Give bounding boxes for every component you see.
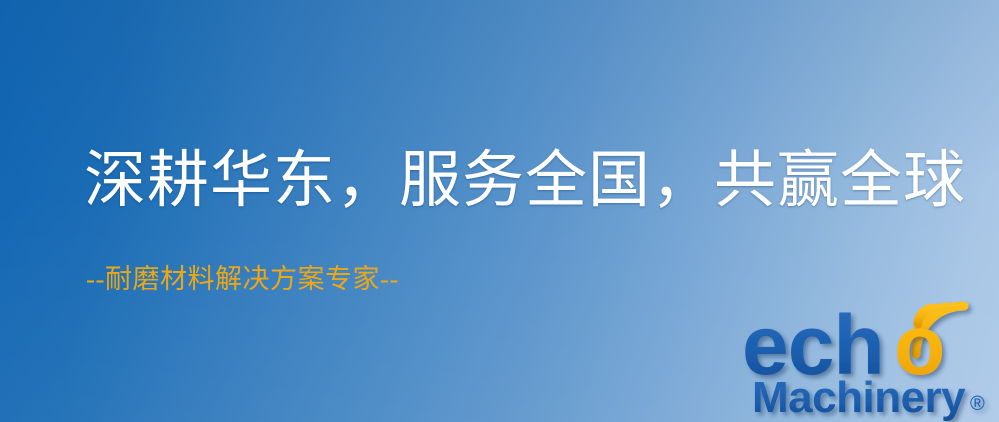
banner-headline: 深耕华东，服务全国，共赢全球 [84,150,966,212]
svg-text:Machinery: Machinery [752,373,966,422]
echo-machinery-logo[interactable]: ech o Machinery ® [742,292,999,422]
trademark-symbol: ® [970,393,985,415]
banner-subtitle: --耐磨材料解决方案专家-- [86,266,399,293]
hero-banner: 深耕华东，服务全国，共赢全球 --耐磨材料解决方案专家-- [0,0,999,422]
logo-tagline: Machinery ® [752,373,985,422]
